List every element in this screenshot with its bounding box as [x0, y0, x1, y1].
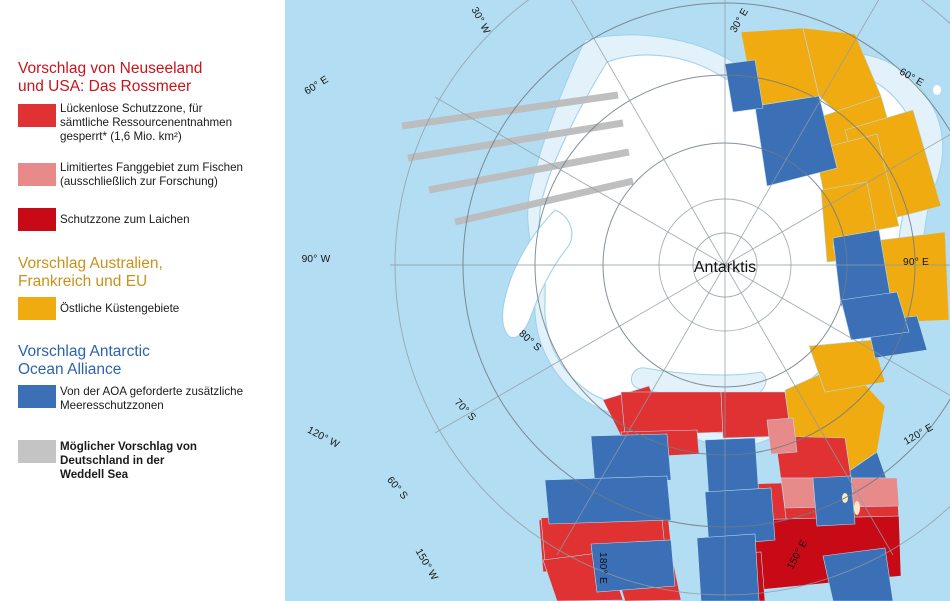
infographic-root: Vorschlag von Neuseeland und USA: Das Ro…	[0, 0, 950, 601]
legend-heading-rossmeer: Vorschlag von Neuseeland und USA: Das Ro…	[18, 60, 268, 96]
legend-swatch-spawning-zone	[18, 208, 56, 231]
antarctica-map: Antarktis 30° W 60° E 90° W 120° W 150° …	[285, 0, 950, 601]
legend-label-eastern-coastal: Östliche Küstengebiete	[60, 302, 275, 316]
legend-label-spawning-zone: Schutzzone zum Laichen	[60, 213, 275, 227]
map-canvas: Antarktis 30° W 60° E 90° W 120° W 150° …	[285, 0, 950, 601]
legend-swatch-weddell-proposal	[18, 440, 56, 463]
zone-blue-ross-e	[813, 476, 855, 526]
legend-swatch-eastern-coastal	[18, 297, 56, 320]
legend-label-limited-fishing: Limitiertes Fanggebiet zum Fischen (auss…	[60, 161, 275, 189]
legend-label-full-protection: Lückenlose Schutzzone, für sämtliche Res…	[60, 102, 275, 145]
label-meridian-90w: 90° W	[302, 254, 331, 265]
legend-panel: Vorschlag von Neuseeland und USA: Das Ro…	[0, 0, 285, 601]
legend-heading-australien: Vorschlag Australien, Frankreich und EU	[18, 255, 268, 291]
label-meridian-90e: 90° E	[903, 257, 929, 268]
island-marker-3	[933, 85, 941, 95]
zone-red-ross-north	[621, 392, 723, 436]
island-marker-2	[854, 501, 860, 515]
zone-blue-ross-se	[823, 548, 893, 601]
label-meridian-180e: 180° E	[597, 552, 608, 584]
legend-label-weddell-proposal: Möglicher Vorschlag von Deutschland in d…	[60, 440, 275, 483]
zone-blue-e-coast	[841, 292, 909, 340]
legend-heading-aoa: Vorschlag Antarctic Ocean Alliance	[18, 343, 268, 379]
legend-label-aoa-zones: Von der AOA geforderte zusätzliche Meere…	[60, 385, 275, 413]
label-antarktis: Antarktis	[694, 259, 756, 276]
legend-swatch-aoa-zones	[18, 385, 56, 408]
zone-lightred-research	[767, 418, 797, 454]
legend-swatch-limited-fishing	[18, 163, 56, 186]
zone-blue-ross-s	[697, 534, 759, 601]
legend-swatch-full-protection	[18, 104, 56, 127]
